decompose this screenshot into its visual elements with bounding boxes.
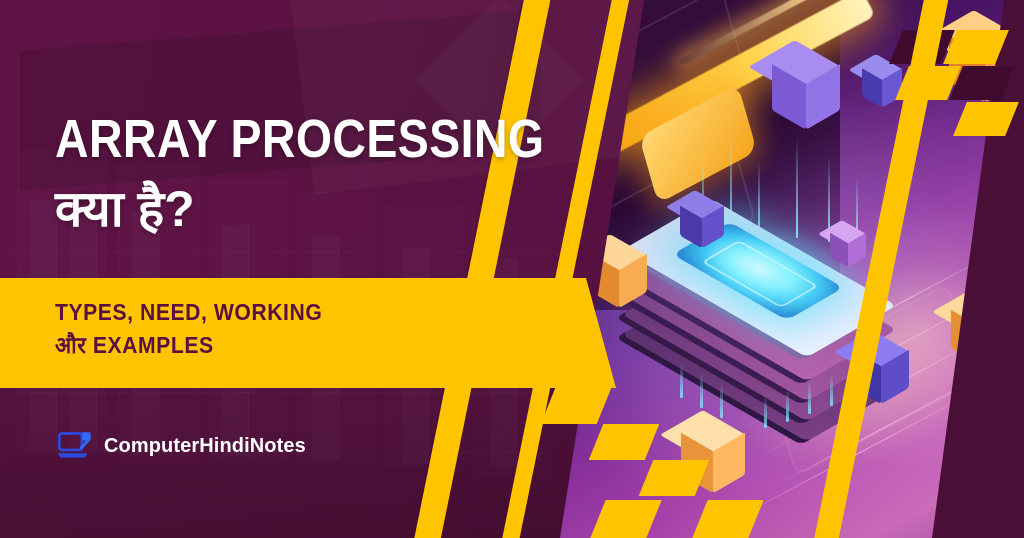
page-title: ARRAY PROCESSING [55, 112, 544, 166]
chip-pin [700, 374, 703, 408]
banner-line-1: TYPES, NEED, WORKING [55, 299, 322, 325]
floating-cube-indigo [678, 190, 726, 246]
banner-line-2: और EXAMPLES [55, 329, 322, 362]
floating-cube-purple [768, 40, 842, 124]
chip-pin [830, 374, 833, 406]
floating-cube-violet [828, 220, 868, 266]
chip-pin [786, 390, 789, 422]
brand-name: ComputerHindiNotes [104, 435, 306, 458]
subtitle-banner-text: TYPES, NEED, WORKING और EXAMPLES [55, 296, 322, 361]
chip-pin [764, 396, 767, 428]
chip-pin [680, 364, 683, 398]
laptop-arrow-icon [57, 431, 93, 461]
building-window-row-1 [10, 252, 550, 253]
banner-canvas: ARRAY PROCESSING क्या है? TYPES, NEED, W… [0, 0, 1024, 538]
page-subtitle-hindi: क्या है? [55, 182, 195, 236]
brand-logo[interactable]: ComputerHindiNotes [57, 431, 306, 461]
chip-pin [808, 382, 811, 414]
